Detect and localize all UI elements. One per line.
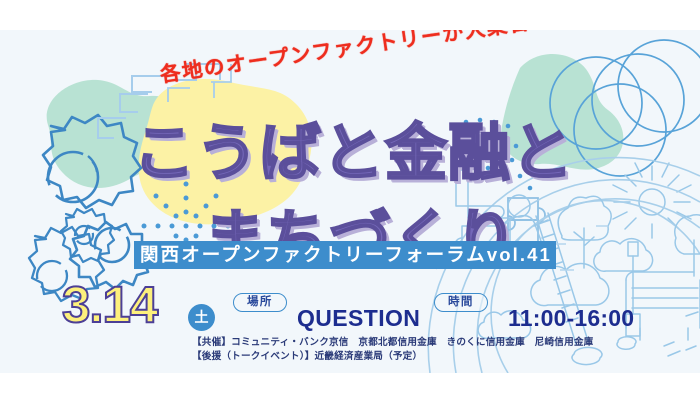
event-info-row: 3.14 土 場所 QUESTION 時間 11:00-16:00 [0, 278, 700, 334]
place-label-pill: 場所 [233, 293, 287, 312]
credit-line-co-host: 【共催】コミュニティ・バンク京信 京都北都信用金庫 きのくに信用金庫 尼崎信用金… [192, 336, 593, 350]
credits-block: 【共催】コミュニティ・バンク京信 京都北都信用金庫 きのくに信用金庫 尼崎信用金… [192, 336, 593, 364]
venue-value: QUESTION [297, 305, 420, 332]
forum-banner: 関西オープンファクトリーフォーラムvol.41 [134, 241, 556, 269]
day-of-week-badge: 土 [188, 304, 215, 331]
sun-rays-icon [613, 163, 691, 238]
title-line-1: こうばと金融と [133, 102, 574, 192]
event-date: 3.14 [62, 278, 157, 332]
poster-screenshot: 各地のオープンファクトリーが大集合！ こうばと金融と まちづくり 関西オープンフ… [0, 0, 700, 406]
event-poster: 各地のオープンファクトリーが大集合！ こうばと金融と まちづくり 関西オープンフ… [0, 30, 700, 373]
credit-line-support: 【後援（トークイベント）】近畿経済産業局（予定） [192, 350, 593, 364]
time-label-pill: 時間 [434, 293, 488, 312]
gear-icon [61, 209, 114, 262]
time-value: 11:00-16:00 [508, 305, 634, 332]
